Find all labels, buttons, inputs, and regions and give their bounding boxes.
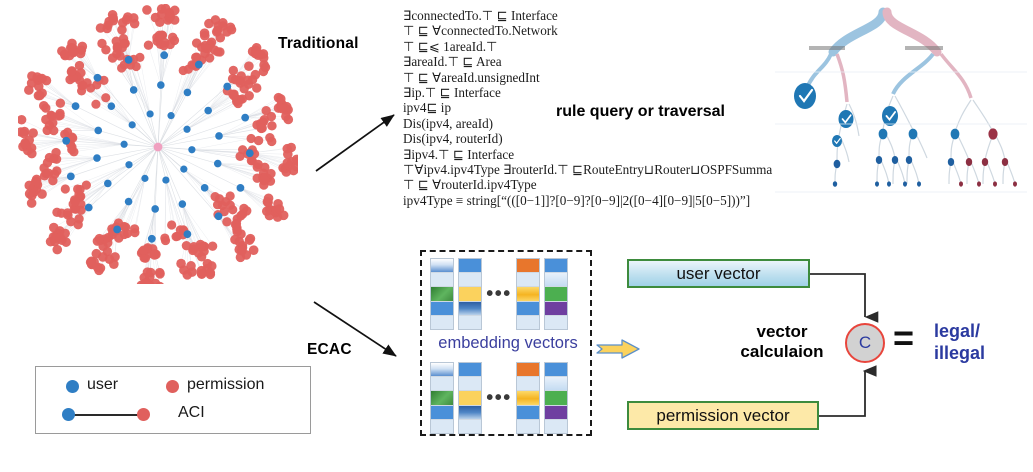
graph-node xyxy=(238,145,247,154)
embedding-vector-cell xyxy=(545,259,567,273)
embedding-vector-cell xyxy=(459,391,481,405)
embedding-vector-cell xyxy=(459,420,481,433)
graph-node xyxy=(98,252,108,262)
embedding-vector-cell xyxy=(545,273,567,287)
graph-node xyxy=(208,242,217,251)
user-node-icon xyxy=(66,380,79,393)
graph-node xyxy=(244,61,254,71)
graph-node xyxy=(226,191,235,200)
embedding-vector-column xyxy=(516,258,540,330)
result-line2: illegal xyxy=(934,342,985,364)
graph-node xyxy=(117,25,127,35)
graph-node xyxy=(180,166,187,173)
graph-node xyxy=(34,91,44,101)
graph-node xyxy=(160,233,169,242)
graph-node xyxy=(150,249,159,258)
graph-node xyxy=(141,253,150,262)
graph-node xyxy=(73,220,82,229)
graph-node xyxy=(204,107,212,115)
graph-node xyxy=(96,23,106,33)
graph-node xyxy=(46,237,56,247)
graph-node xyxy=(179,200,187,208)
graph-node xyxy=(142,5,152,15)
graph-node xyxy=(110,252,120,262)
graph-node xyxy=(229,66,238,75)
graph-node xyxy=(32,72,42,82)
graph-node xyxy=(267,137,276,146)
graph-node xyxy=(201,184,209,192)
embedding-vector-cell xyxy=(517,363,539,377)
graph-node xyxy=(184,89,192,97)
graph-node xyxy=(121,39,130,48)
graph-node xyxy=(232,227,242,237)
graph-node xyxy=(225,201,234,210)
graph-node xyxy=(205,268,215,278)
embedding-vectors-panel: ••• embedding vectors ••• xyxy=(420,250,592,436)
graph-node xyxy=(155,269,165,279)
graph-node xyxy=(85,204,93,212)
graph-node xyxy=(257,123,266,132)
embedding-vector-row: ••• xyxy=(430,362,586,434)
embedding-vector-cell xyxy=(459,287,481,301)
decision-tree-figure xyxy=(775,6,1027,198)
legend-row-nodes: user permission xyxy=(36,371,312,401)
graph-node xyxy=(91,100,100,109)
graph-node xyxy=(197,269,207,279)
graph-node xyxy=(113,226,121,234)
graph-node xyxy=(237,184,245,192)
graph-node xyxy=(176,259,186,269)
axiom-line: ⊤ ⊑ ∀routerId.ipv4Type xyxy=(403,177,833,192)
graph-node xyxy=(186,261,196,271)
graph-node xyxy=(223,83,231,91)
embedding-vector-cell xyxy=(545,391,567,405)
graph-node xyxy=(24,85,34,95)
network-graph-svg xyxy=(18,4,298,284)
graph-node xyxy=(52,208,61,217)
legend-box: user permission ACI xyxy=(35,366,311,434)
graph-node xyxy=(125,56,133,64)
permission-node-icon xyxy=(166,380,179,393)
graph-node xyxy=(167,220,176,229)
embedding-vector-cell xyxy=(517,316,539,329)
graph-node xyxy=(214,160,222,168)
graph-node xyxy=(234,237,244,247)
graph-node xyxy=(281,112,291,122)
graph-node xyxy=(215,132,223,140)
axiom-line: ⊤∀ipv4.ipv4Type ∃routerId.⊤ ⊑RouteEntry⊔… xyxy=(403,162,833,177)
graph-node xyxy=(144,41,153,50)
graph-node xyxy=(97,39,106,48)
graph-node xyxy=(170,6,180,16)
graph-node xyxy=(104,180,112,188)
graph-node xyxy=(265,211,275,221)
embedding-vector-cell xyxy=(517,406,539,420)
graph-node xyxy=(117,63,126,72)
embedding-vector-cell xyxy=(517,391,539,405)
embedding-vector-cell xyxy=(545,316,567,329)
graph-node xyxy=(241,114,249,122)
graph-node xyxy=(49,223,59,233)
embedding-vector-cell xyxy=(431,377,453,391)
graph-node xyxy=(184,230,192,238)
embedding-vector-cell xyxy=(459,406,481,420)
graph-node xyxy=(68,48,78,58)
graph-node xyxy=(215,194,224,203)
graph-node xyxy=(50,169,59,178)
graph-node xyxy=(27,198,37,208)
graph-node xyxy=(129,121,136,128)
graph-node xyxy=(189,244,198,253)
embedding-vector-cell xyxy=(431,406,453,420)
embedding-vector-cell xyxy=(517,302,539,316)
graph-node xyxy=(267,121,276,130)
embedding-vector-cell xyxy=(545,377,567,391)
user-vector-box[interactable]: user vector xyxy=(627,259,810,288)
equals-sign: = xyxy=(893,318,914,358)
axiom-line: ⊤ ⊑ ∀connectedTo.Network xyxy=(403,23,833,38)
axiom-line: ∃connectedTo.⊤ ⊑ Interface xyxy=(403,8,833,23)
embedding-vector-cell xyxy=(545,363,567,377)
graph-node xyxy=(227,25,237,35)
graph-node xyxy=(212,27,222,37)
embedding-vector-row: ••• xyxy=(430,258,586,330)
aci-link-line-icon xyxy=(70,414,142,416)
graph-node xyxy=(157,81,165,89)
embedding-vector-cell xyxy=(431,363,453,377)
comparison-node[interactable]: C xyxy=(845,323,885,363)
graph-node xyxy=(39,101,49,111)
graph-node xyxy=(93,154,101,162)
embedding-vector-cell xyxy=(545,302,567,316)
embedding-vector-cell xyxy=(459,259,481,273)
legend-label-aci: ACI xyxy=(178,404,205,422)
graph-node xyxy=(125,161,132,168)
graph-node xyxy=(108,53,117,62)
embedding-vector-cell xyxy=(431,420,453,433)
user-node-icon xyxy=(62,408,75,421)
graph-node xyxy=(218,18,228,28)
graph-node xyxy=(162,176,169,183)
embedding-vector-cell xyxy=(545,420,567,433)
graph-node xyxy=(237,246,247,256)
graph-node xyxy=(78,42,88,52)
axiom-line: ∃ip.⊤ ⊑ Interface xyxy=(403,85,833,100)
graph-node xyxy=(264,193,274,203)
graph-node xyxy=(254,136,263,145)
graph-node xyxy=(94,74,102,82)
graph-node xyxy=(155,31,164,40)
vector-calc-line2: calculaion xyxy=(727,342,837,362)
graph-node xyxy=(184,65,193,74)
graph-node xyxy=(141,175,148,182)
label-vector-calculation: vector calculaion xyxy=(727,322,837,362)
graph-node xyxy=(275,204,285,214)
legend-row-aci: ACI xyxy=(36,401,312,431)
embedding-vector-column xyxy=(430,362,454,434)
graph-node xyxy=(222,217,231,226)
graph-node xyxy=(148,235,156,243)
label-embedding-vectors: embedding vectors xyxy=(422,334,594,353)
graph-node xyxy=(24,181,34,191)
graph-node xyxy=(249,245,259,255)
embedding-vector-cell xyxy=(517,420,539,433)
graph-node xyxy=(61,184,70,193)
embedding-vector-cell xyxy=(431,302,453,316)
graph-node xyxy=(27,143,37,153)
graph-node xyxy=(125,198,133,206)
graph-node xyxy=(213,47,222,56)
graph-node xyxy=(139,245,148,254)
graph-node xyxy=(246,149,254,157)
graph-node xyxy=(20,127,30,137)
graph-node xyxy=(82,181,91,190)
embedding-vector-cell xyxy=(517,377,539,391)
legend-label-user: user xyxy=(87,376,118,394)
graph-node xyxy=(108,102,116,110)
graph-node xyxy=(203,259,213,269)
label-result-legal-illegal: legal/ illegal xyxy=(934,320,985,364)
axiom-line: ipv4Type ≡ string[“(([0−1]]?[0−9]?[0−9]|… xyxy=(403,193,833,208)
graph-node xyxy=(167,112,174,119)
graph-node xyxy=(283,158,293,168)
graph-node xyxy=(112,37,121,46)
permission-node-icon xyxy=(137,408,150,421)
graph-node xyxy=(204,19,214,29)
graph-node xyxy=(101,93,110,102)
graph-node xyxy=(201,44,210,53)
result-line1: legal/ xyxy=(934,320,985,342)
embedding-vector-cell xyxy=(517,273,539,287)
embedding-vector-cell xyxy=(517,259,539,273)
graph-node xyxy=(276,94,286,104)
graph-node xyxy=(130,86,138,94)
arrow-to-traditional xyxy=(300,105,410,185)
graph-node xyxy=(95,234,104,243)
graph-node xyxy=(76,68,85,77)
embedding-vector-cell xyxy=(545,287,567,301)
graph-node xyxy=(67,66,76,75)
graph-node xyxy=(78,81,87,90)
embedding-vector-cell xyxy=(431,316,453,329)
graph-node xyxy=(183,126,190,133)
graph-node xyxy=(55,111,64,120)
vector-ellipsis: ••• xyxy=(486,258,512,330)
embedding-vector-column xyxy=(544,362,568,434)
graph-node xyxy=(253,50,263,60)
graph-node xyxy=(260,163,269,172)
axiom-line: ⊤ ⊑ ∀areaId.unsignedInt xyxy=(403,70,833,85)
embedding-vector-cell xyxy=(431,273,453,287)
label-rule-query-or-traversal: rule query or traversal xyxy=(556,103,725,121)
graph-node xyxy=(252,83,261,92)
graph-node xyxy=(259,67,269,77)
graph-node xyxy=(71,197,80,206)
graph-node xyxy=(51,148,60,157)
graph-node xyxy=(171,232,180,241)
vector-calc-line1: vector xyxy=(727,322,837,342)
graph-node xyxy=(67,173,75,181)
axiom-line: ∃ipv4.⊤ ⊑ Interface xyxy=(403,147,833,162)
embedding-vector-cell xyxy=(459,377,481,391)
graph-node xyxy=(200,28,210,38)
radial-network-graph xyxy=(18,4,298,284)
graph-node xyxy=(72,102,80,110)
legend-label-permission: permission xyxy=(187,376,264,394)
axiom-line: ⊤ ⊑⩽ 1areaId.⊤ xyxy=(403,39,833,54)
graph-node xyxy=(67,145,76,154)
graph-node xyxy=(267,112,276,121)
graph-node xyxy=(108,10,118,20)
embedding-vector-cell xyxy=(431,259,453,273)
graph-node xyxy=(37,189,47,199)
permission-vector-box[interactable]: permission vector xyxy=(627,401,819,430)
graph-node xyxy=(18,115,26,125)
graph-node xyxy=(195,61,203,69)
embedding-vector-cell xyxy=(431,287,453,301)
embedding-vector-column xyxy=(458,362,482,434)
graph-node xyxy=(286,143,296,153)
axiom-line: ∃areaId.⊤ ⊑ Area xyxy=(403,54,833,69)
graph-node xyxy=(154,143,163,152)
graph-node xyxy=(188,146,195,153)
graph-node xyxy=(161,4,171,13)
arrow-to-ecac xyxy=(300,290,410,370)
graph-node xyxy=(236,211,245,220)
embedding-vector-cell xyxy=(459,316,481,329)
label-traditional: Traditional xyxy=(278,35,359,53)
embedding-vector-column xyxy=(430,258,454,330)
embedding-vector-column xyxy=(458,258,482,330)
graph-node xyxy=(151,205,159,213)
graph-node xyxy=(130,19,140,29)
graph-node xyxy=(215,212,223,220)
embedding-vector-cell xyxy=(517,287,539,301)
graph-node xyxy=(56,98,65,107)
graph-node xyxy=(55,233,65,243)
graph-node xyxy=(160,51,168,59)
decision-tree-svg xyxy=(775,6,1027,198)
embedding-vector-cell xyxy=(431,391,453,405)
embedding-vector-cell xyxy=(459,363,481,377)
embedding-vector-column xyxy=(516,362,540,434)
graph-node xyxy=(229,91,238,100)
graph-node xyxy=(166,40,175,49)
embedding-vector-cell xyxy=(459,273,481,287)
yellow-arrow-icon xyxy=(596,338,640,360)
axiom-line: Dis(ipv4, routerId) xyxy=(403,131,833,146)
graph-node xyxy=(93,263,103,273)
graph-node xyxy=(52,245,62,255)
graph-node xyxy=(143,267,153,277)
embedding-vector-cell xyxy=(459,302,481,316)
embedding-vector-cell xyxy=(545,406,567,420)
embedding-vector-column xyxy=(544,258,568,330)
graph-node xyxy=(147,110,154,117)
graph-node xyxy=(49,126,58,135)
graph-node xyxy=(121,141,128,148)
vector-ellipsis: ••• xyxy=(486,362,512,434)
graph-node xyxy=(47,111,56,120)
graph-node xyxy=(246,234,256,244)
graph-node xyxy=(94,127,102,135)
graph-node xyxy=(62,137,70,145)
